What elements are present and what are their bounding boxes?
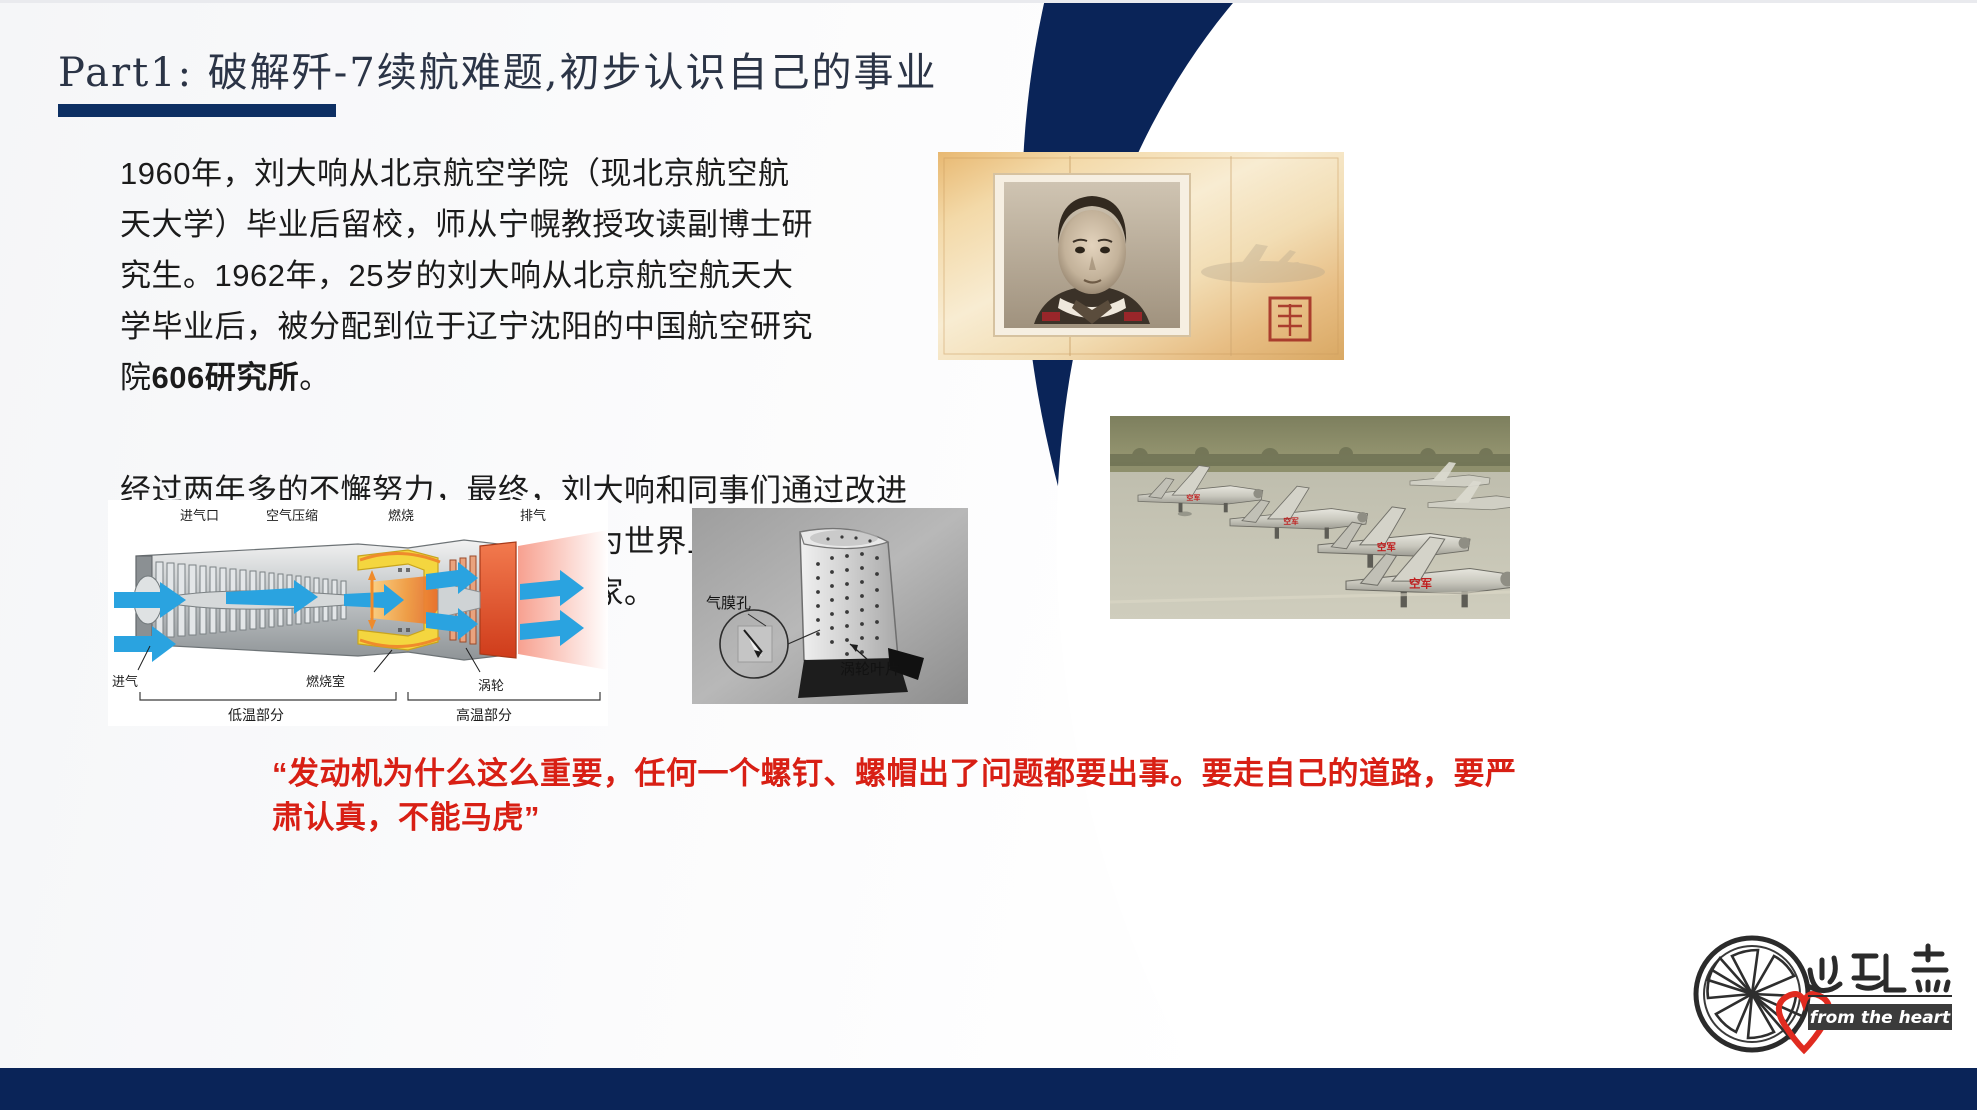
paragraph-1-tail: 。 [299,360,331,395]
engine-label-turbine: 涡轮 [478,679,504,694]
page-title: Part1: 破解歼-7续航难题,初步认识自己的事业 [58,40,937,98]
svg-text:空军: 空军 [1377,542,1397,554]
paragraph-1-bold-606: 606研究所 [152,360,300,395]
top-edge-line [0,0,1977,3]
engine-label-combustor: 燃烧室 [306,674,345,690]
logo-cn-name [1808,946,1948,991]
jet-engine-diagram: 进气口 空气压缩 燃烧 排气 [108,500,608,726]
engine-label-hot-section: 高温部分 [456,707,512,724]
svg-text:空军: 空军 [1186,493,1200,502]
svg-text:空军: 空军 [1409,576,1432,590]
blade-label-film-holes: 气膜孔 [706,594,751,612]
footer-navy-bar [0,1068,1977,1110]
turbine-blade-photo: 气膜孔 涡轮叶片 [692,508,968,704]
highlighted-quote: “发动机为什么这么重要，任何一个螺钉、螺帽出了问题都要出事。要走自己的道路，要严… [272,752,1542,840]
blade-label-turbine-blade: 涡轮叶片 [840,660,900,678]
portrait-photo [938,152,1344,360]
engine-label-compression: 空气压缩 [266,508,318,524]
logo-tagline: from the heart [1810,1008,1951,1028]
page-title-block: Part1: 破解歼-7续航难题,初步认识自己的事业 [58,40,937,117]
body-paragraph-1: 1960年，刘大响从北京航空学院（现北京航空航天大学）毕业后留校，师从宁幌教授攻… [120,148,820,403]
engine-label-cold-section: 低温部分 [228,708,284,724]
engine-label-intake-bottom: 进气 [112,674,138,690]
fighter-jets-photo: 空军 空军 空军 [1110,416,1510,619]
title-underline-bar [58,104,336,117]
engine-label-combustion: 燃烧 [388,508,414,524]
svg-text:空军: 空军 [1283,516,1299,526]
slide-canvas: Part1: 破解歼-7续航难题,初步认识自己的事业 1960年，刘大响从北京航… [0,0,1977,1110]
brand-logo: from the heart [1690,930,1960,1058]
engine-label-exhaust: 排气 [520,508,546,524]
engine-label-intake-top: 进气口 [180,508,219,524]
